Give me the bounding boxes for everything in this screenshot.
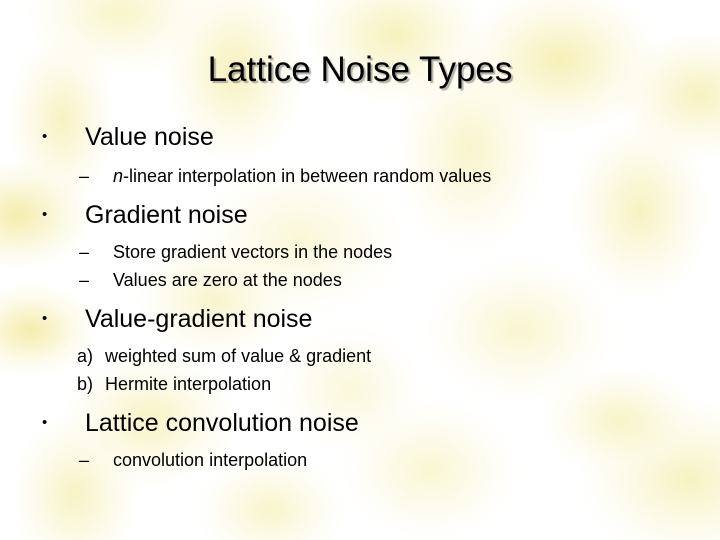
bullet-level2-label: Values are zero at the nodes bbox=[113, 270, 342, 290]
dash-marker-icon: – bbox=[79, 238, 89, 266]
bullet-level2-label: weighted sum of value & gradient bbox=[105, 346, 371, 366]
spacer bbox=[0, 154, 720, 162]
alpha-marker-a: a) bbox=[77, 342, 93, 370]
bullet-group-value-gradient-noise: • Value-gradient noise a) weighted sum o… bbox=[0, 302, 720, 398]
bullet-level2-label: convolution interpolation bbox=[113, 450, 307, 470]
bullet-dot-icon: • bbox=[42, 120, 47, 154]
bullet-level2-label: Store gradient vectors in the nodes bbox=[113, 242, 392, 262]
dash-marker-icon: – bbox=[79, 266, 89, 294]
bullet-level2-weighted-sum: a) weighted sum of value & gradient bbox=[0, 342, 720, 370]
bullet-group-gradient-noise: • Gradient noise – Store gradient vector… bbox=[0, 198, 720, 294]
bullet-level1-lattice-convolution-noise: • Lattice convolution noise bbox=[0, 406, 720, 440]
slide-body: • Value noise – n-linear interpolation i… bbox=[0, 120, 720, 474]
slide-title: Lattice Noise Types bbox=[0, 50, 720, 90]
bullet-dot-icon: • bbox=[42, 302, 47, 336]
bullet-level2-convolution-interpolation: – convolution interpolation bbox=[0, 446, 720, 474]
dash-marker-icon: – bbox=[79, 162, 89, 190]
spacer bbox=[0, 294, 720, 302]
spacer bbox=[0, 398, 720, 406]
bullet-level1-value-noise: • Value noise bbox=[0, 120, 720, 154]
bullet-level1-gradient-noise: • Gradient noise bbox=[0, 198, 720, 232]
bullet-level2-store-gradient-vectors: – Store gradient vectors in the nodes bbox=[0, 238, 720, 266]
bullet-group-lattice-convolution-noise: • Lattice convolution noise – convolutio… bbox=[0, 406, 720, 474]
bullet-level1-label: Lattice convolution noise bbox=[85, 409, 359, 437]
bullet-dot-icon: • bbox=[42, 406, 47, 440]
italic-variable-n: n bbox=[113, 166, 123, 186]
alpha-marker-b: b) bbox=[77, 370, 93, 398]
presentation-slide: Lattice Noise Types • Value noise – n-li… bbox=[0, 0, 720, 540]
bullet-level2-label: Hermite interpolation bbox=[105, 374, 271, 394]
spacer bbox=[0, 190, 720, 198]
bullet-level2-n-linear: – n-linear interpolation in between rand… bbox=[0, 162, 720, 190]
bullet-level1-value-gradient-noise: • Value-gradient noise bbox=[0, 302, 720, 336]
bullet-level1-label: Gradient noise bbox=[85, 201, 248, 229]
bullet-level2-values-are-zero: – Values are zero at the nodes bbox=[0, 266, 720, 294]
bullet-level2-label: -linear interpolation in between random … bbox=[123, 166, 491, 186]
bullet-level1-label: Value-gradient noise bbox=[85, 305, 312, 333]
bullet-level2-hermite-interpolation: b) Hermite interpolation bbox=[0, 370, 720, 398]
bullet-dot-icon: • bbox=[42, 198, 47, 232]
bullet-group-value-noise: • Value noise – n-linear interpolation i… bbox=[0, 120, 720, 190]
bullet-level1-label: Value noise bbox=[85, 123, 214, 151]
dash-marker-icon: – bbox=[79, 446, 89, 474]
